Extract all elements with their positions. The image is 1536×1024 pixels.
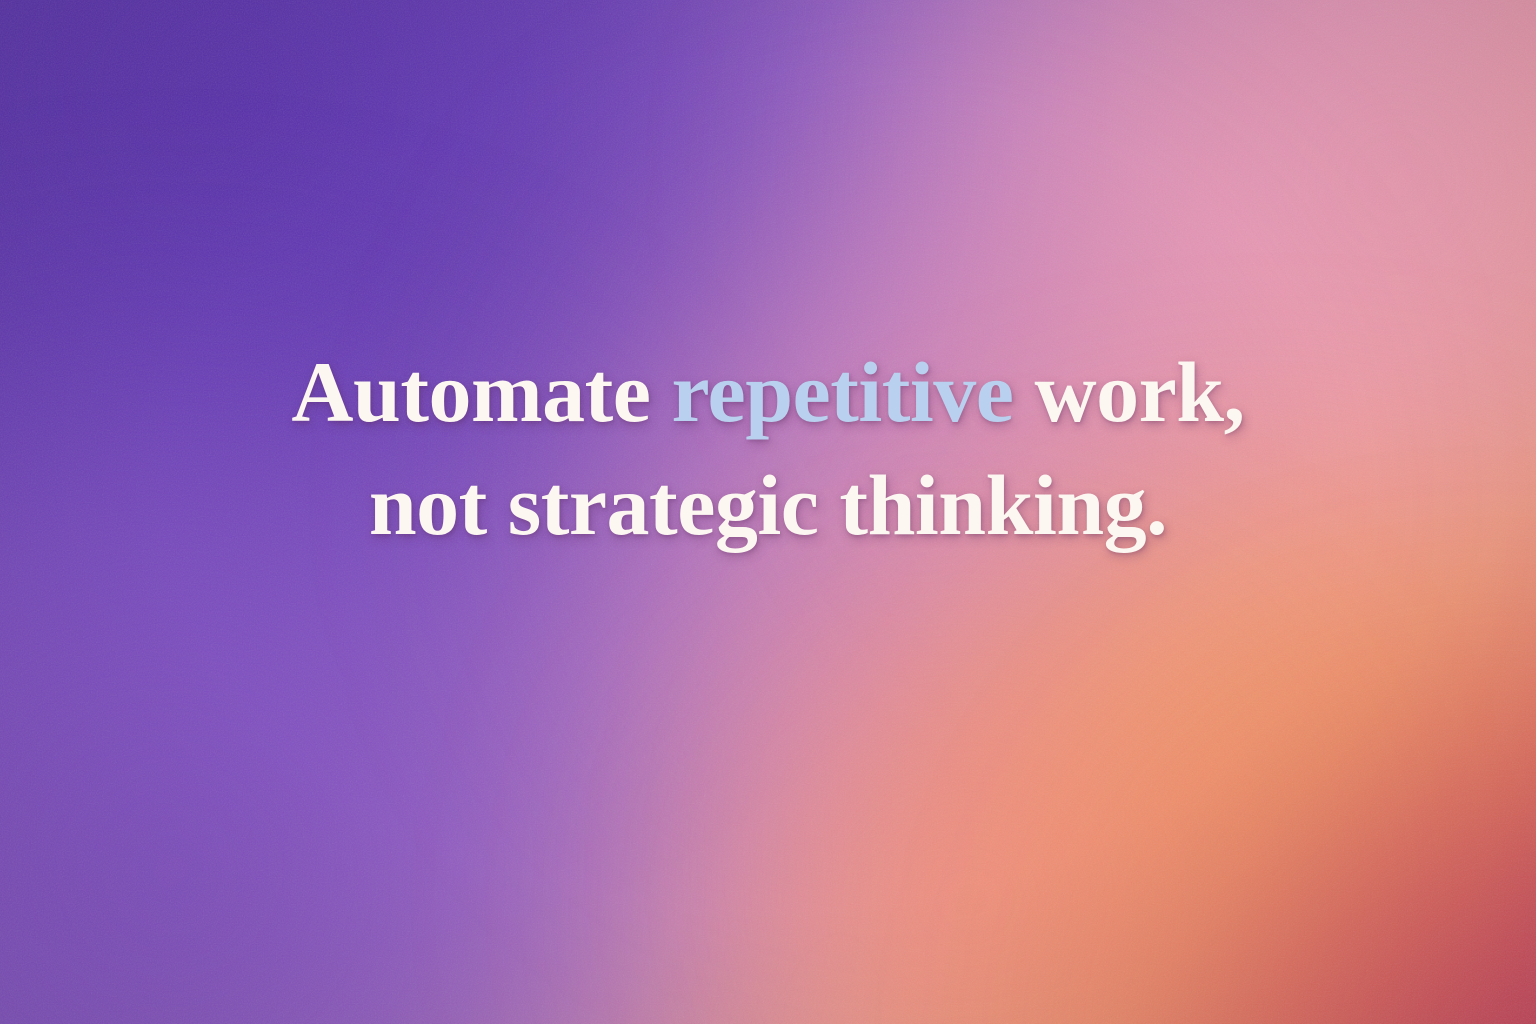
headline-line-1: Automate repetitive work, (0, 336, 1536, 449)
headline-line-2: not strategic thinking. (0, 449, 1536, 562)
headline: Automate repetitive work, not strategic … (0, 336, 1536, 562)
hero-banner: Automate repetitive work, not strategic … (0, 0, 1536, 1024)
headline-accent-word: repetitive (671, 344, 1013, 440)
headline-text-after-accent: work, (1013, 344, 1244, 440)
headline-text-before-accent: Automate (291, 344, 671, 440)
